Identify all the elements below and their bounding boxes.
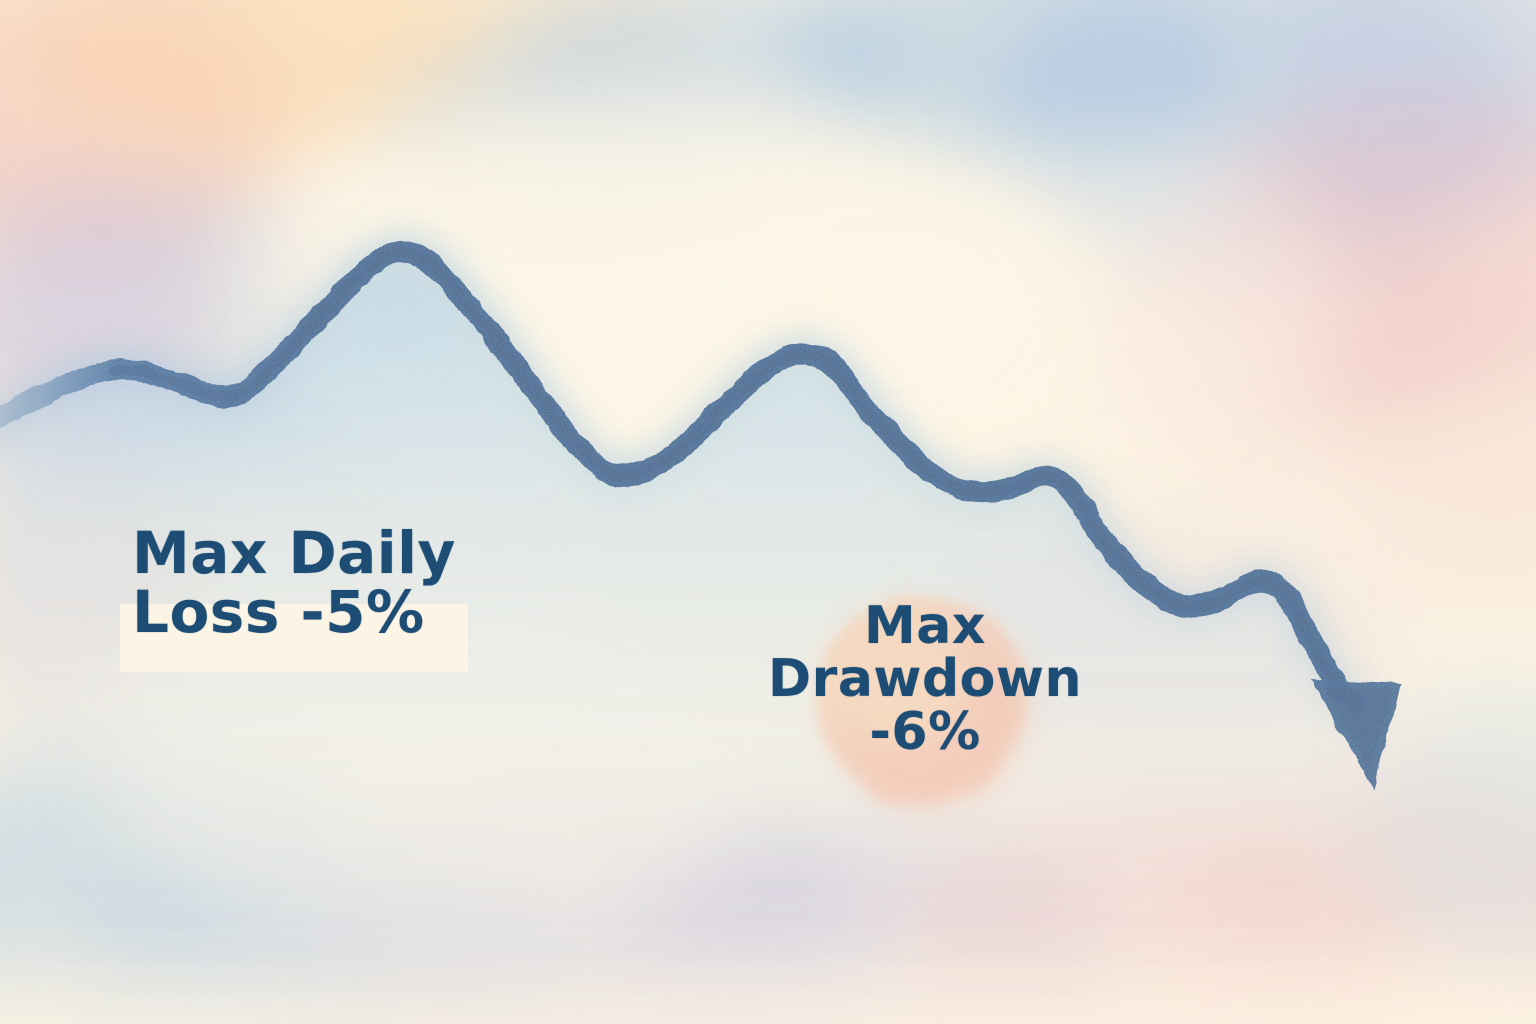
illustration-canvas: Max Daily Loss -5% Max Drawdown -6% xyxy=(0,0,1536,1024)
paper-grain-overlay xyxy=(0,0,1536,1024)
max-drawdown-line-3: -6% xyxy=(760,706,1090,759)
max-daily-loss-line-2: Loss -5% xyxy=(132,583,456,642)
max-drawdown-annotation: Max Drawdown -6% xyxy=(760,600,1090,759)
max-daily-loss-annotation: Max Daily Loss -5% xyxy=(132,524,456,642)
max-drawdown-line-2: Drawdown xyxy=(760,653,1090,706)
max-drawdown-line-1: Max xyxy=(760,600,1090,653)
max-daily-loss-line-1: Max Daily xyxy=(132,524,456,583)
watercolor-chart-artwork xyxy=(0,0,1536,1024)
